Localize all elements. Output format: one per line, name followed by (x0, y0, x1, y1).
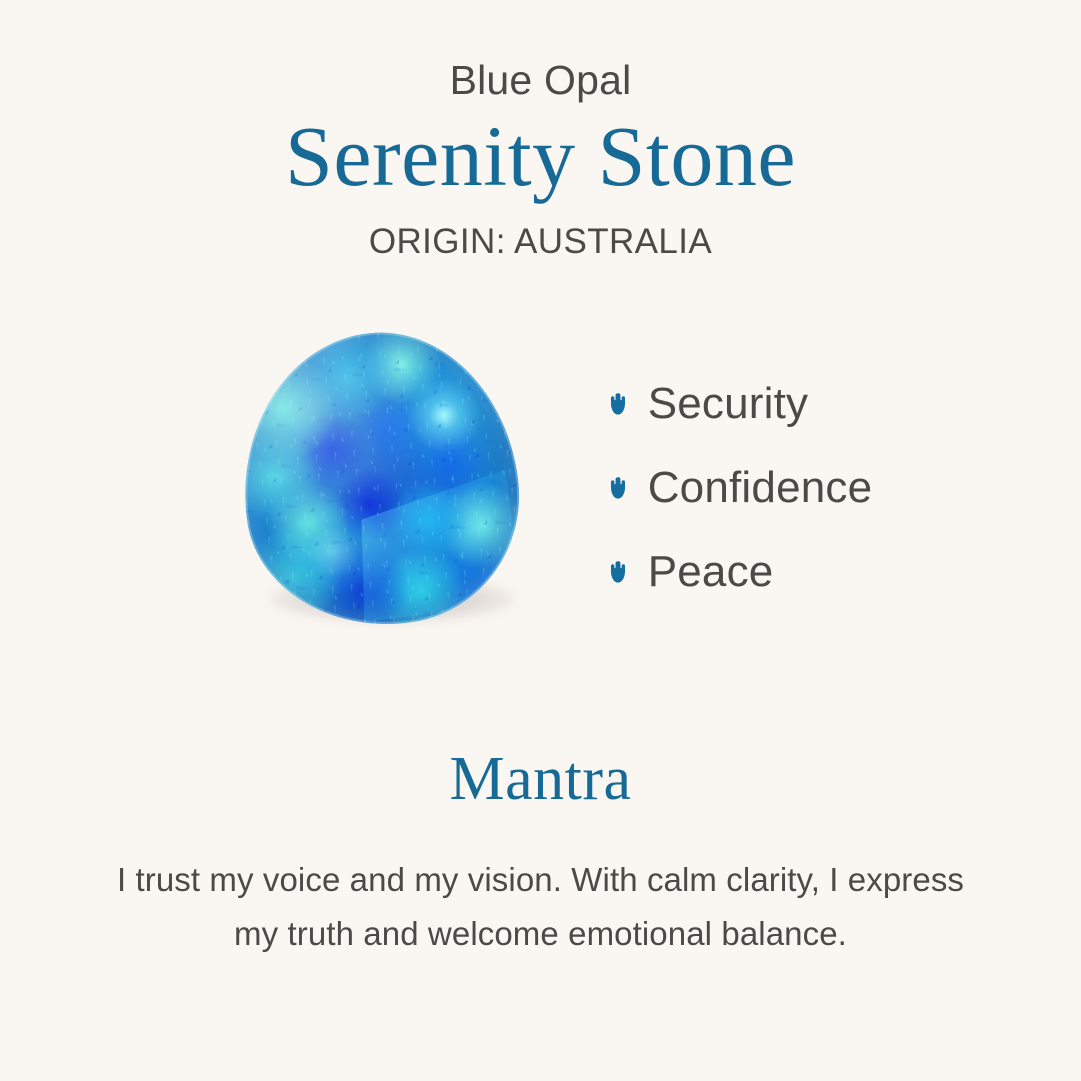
mantra-section: Mantra I trust my voice and my vision. W… (0, 745, 1081, 960)
blue-opal-gemstone-icon (226, 317, 534, 640)
mantra-heading: Mantra (0, 745, 1081, 813)
stone-and-properties-section: Security Confidence Peace (0, 323, 1081, 653)
hamsa-hand-icon (609, 392, 628, 417)
property-label: Security (648, 382, 809, 426)
gemstone-info-card: Blue Opal Serenity Stone ORIGIN: AUSTRAL… (0, 0, 1081, 1081)
gemstone-image-container (209, 323, 609, 653)
hamsa-hand-icon (609, 476, 628, 501)
hamsa-hand-icon (609, 560, 628, 585)
list-item: Peace (609, 550, 873, 594)
stone-category-label: Blue Opal (0, 58, 1081, 102)
list-item: Security (609, 382, 873, 426)
property-label: Peace (648, 550, 774, 594)
property-label: Confidence (648, 466, 873, 510)
list-item: Confidence (609, 466, 873, 510)
page-title: Serenity Stone (0, 108, 1081, 204)
mantra-body-text: I trust my voice and my vision. With cal… (101, 853, 981, 960)
stone-origin-label: ORIGIN: AUSTRALIA (0, 223, 1081, 262)
stone-properties-list: Security Confidence Peace (609, 382, 873, 594)
card-header: Blue Opal Serenity Stone ORIGIN: AUSTRAL… (0, 0, 1081, 261)
